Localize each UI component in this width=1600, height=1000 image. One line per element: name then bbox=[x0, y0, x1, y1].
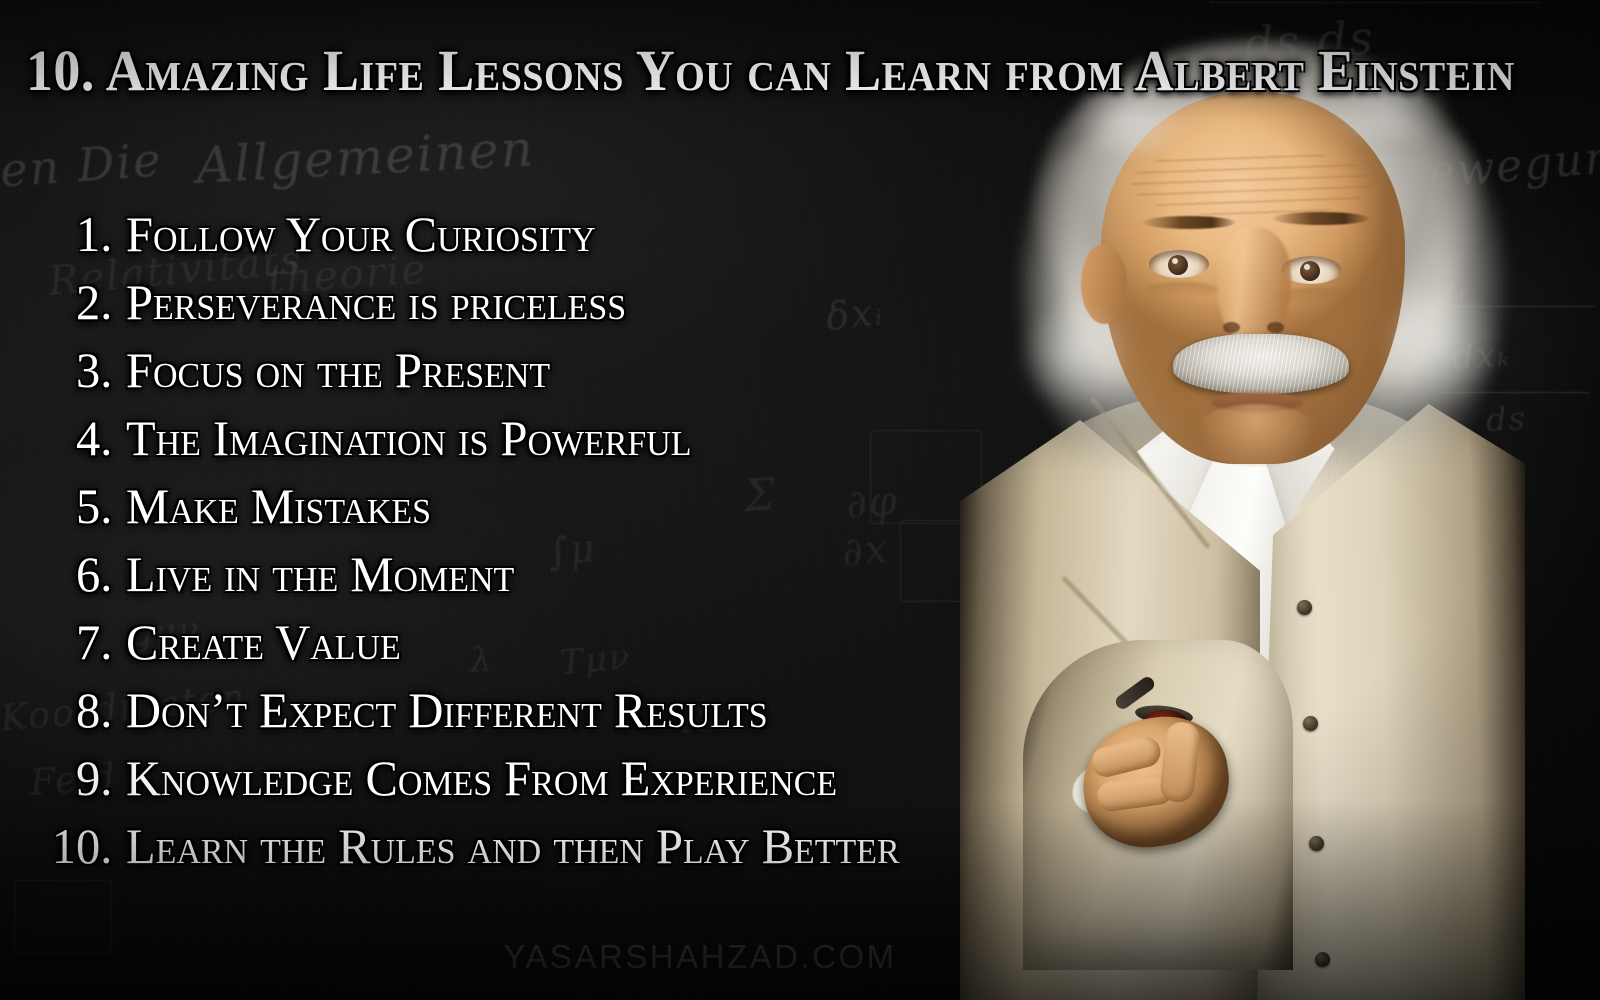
lesson-number: 1. bbox=[4, 205, 126, 263]
lesson-text: Knowledge Comes From Experience bbox=[126, 749, 837, 807]
lesson-item: 9.Knowledge Comes From Experience bbox=[0, 749, 1180, 817]
cardigan-button bbox=[1303, 716, 1318, 731]
figure-mustache bbox=[1173, 334, 1349, 394]
cardigan-button bbox=[1309, 836, 1324, 851]
lesson-number: 2. bbox=[4, 273, 126, 331]
lesson-number: 7. bbox=[4, 613, 126, 671]
site-watermark: YASARSHAHZAD.COM bbox=[0, 938, 1400, 976]
lesson-item: 10.Learn the Rules and then Play Better bbox=[0, 817, 1180, 885]
lesson-number: 8. bbox=[4, 681, 126, 739]
lesson-text: Create Value bbox=[126, 613, 401, 671]
figure-chin bbox=[1191, 404, 1321, 466]
lesson-text: Live in the Moment bbox=[126, 545, 514, 603]
lesson-item: 5.Make Mistakes bbox=[0, 477, 1180, 545]
lesson-item: 4.The Imagination is Powerful bbox=[0, 409, 1180, 477]
hair-wisp bbox=[1375, 286, 1505, 406]
lesson-text: The Imagination is Powerful bbox=[126, 409, 692, 467]
lesson-number: 5. bbox=[4, 477, 126, 535]
lesson-number: 9. bbox=[4, 749, 126, 807]
lesson-item: 8.Don’t Expect Different Results bbox=[0, 681, 1180, 749]
cardigan-button bbox=[1297, 600, 1312, 615]
lesson-number: 6. bbox=[4, 545, 126, 603]
lesson-item: 2.Perseverance is priceless bbox=[0, 273, 1180, 341]
nostril-left bbox=[1223, 322, 1240, 333]
lesson-text: Don’t Expect Different Results bbox=[126, 681, 768, 739]
lesson-item: 6.Live in the Moment bbox=[0, 545, 1180, 613]
lesson-text: Perseverance is priceless bbox=[126, 273, 626, 331]
nostril-right bbox=[1267, 322, 1284, 333]
eyebrow-right bbox=[1273, 212, 1369, 225]
lesson-number: 3. bbox=[4, 341, 126, 399]
lesson-item: 7.Create Value bbox=[0, 613, 1180, 681]
lesson-item: 3.Focus on the Present bbox=[0, 341, 1180, 409]
lesson-text: Learn the Rules and then Play Better bbox=[126, 817, 900, 875]
lesson-item: 1.Follow Your Curiosity bbox=[0, 205, 1180, 273]
lesson-number: 10. bbox=[4, 817, 126, 875]
lesson-text: Make Mistakes bbox=[126, 477, 431, 535]
lesson-text: Focus on the Present bbox=[126, 341, 550, 399]
poster-canvas: en DieAllgemeinenRelativitätstheorieδxᵢd… bbox=[0, 0, 1600, 1000]
lessons-list: 1.Follow Your Curiosity2.Perseverance is… bbox=[0, 205, 1180, 885]
page-title: 10. Amazing Life Lessons You can Learn f… bbox=[26, 42, 1515, 100]
lesson-number: 4. bbox=[4, 409, 126, 467]
lesson-text: Follow Your Curiosity bbox=[126, 205, 595, 263]
